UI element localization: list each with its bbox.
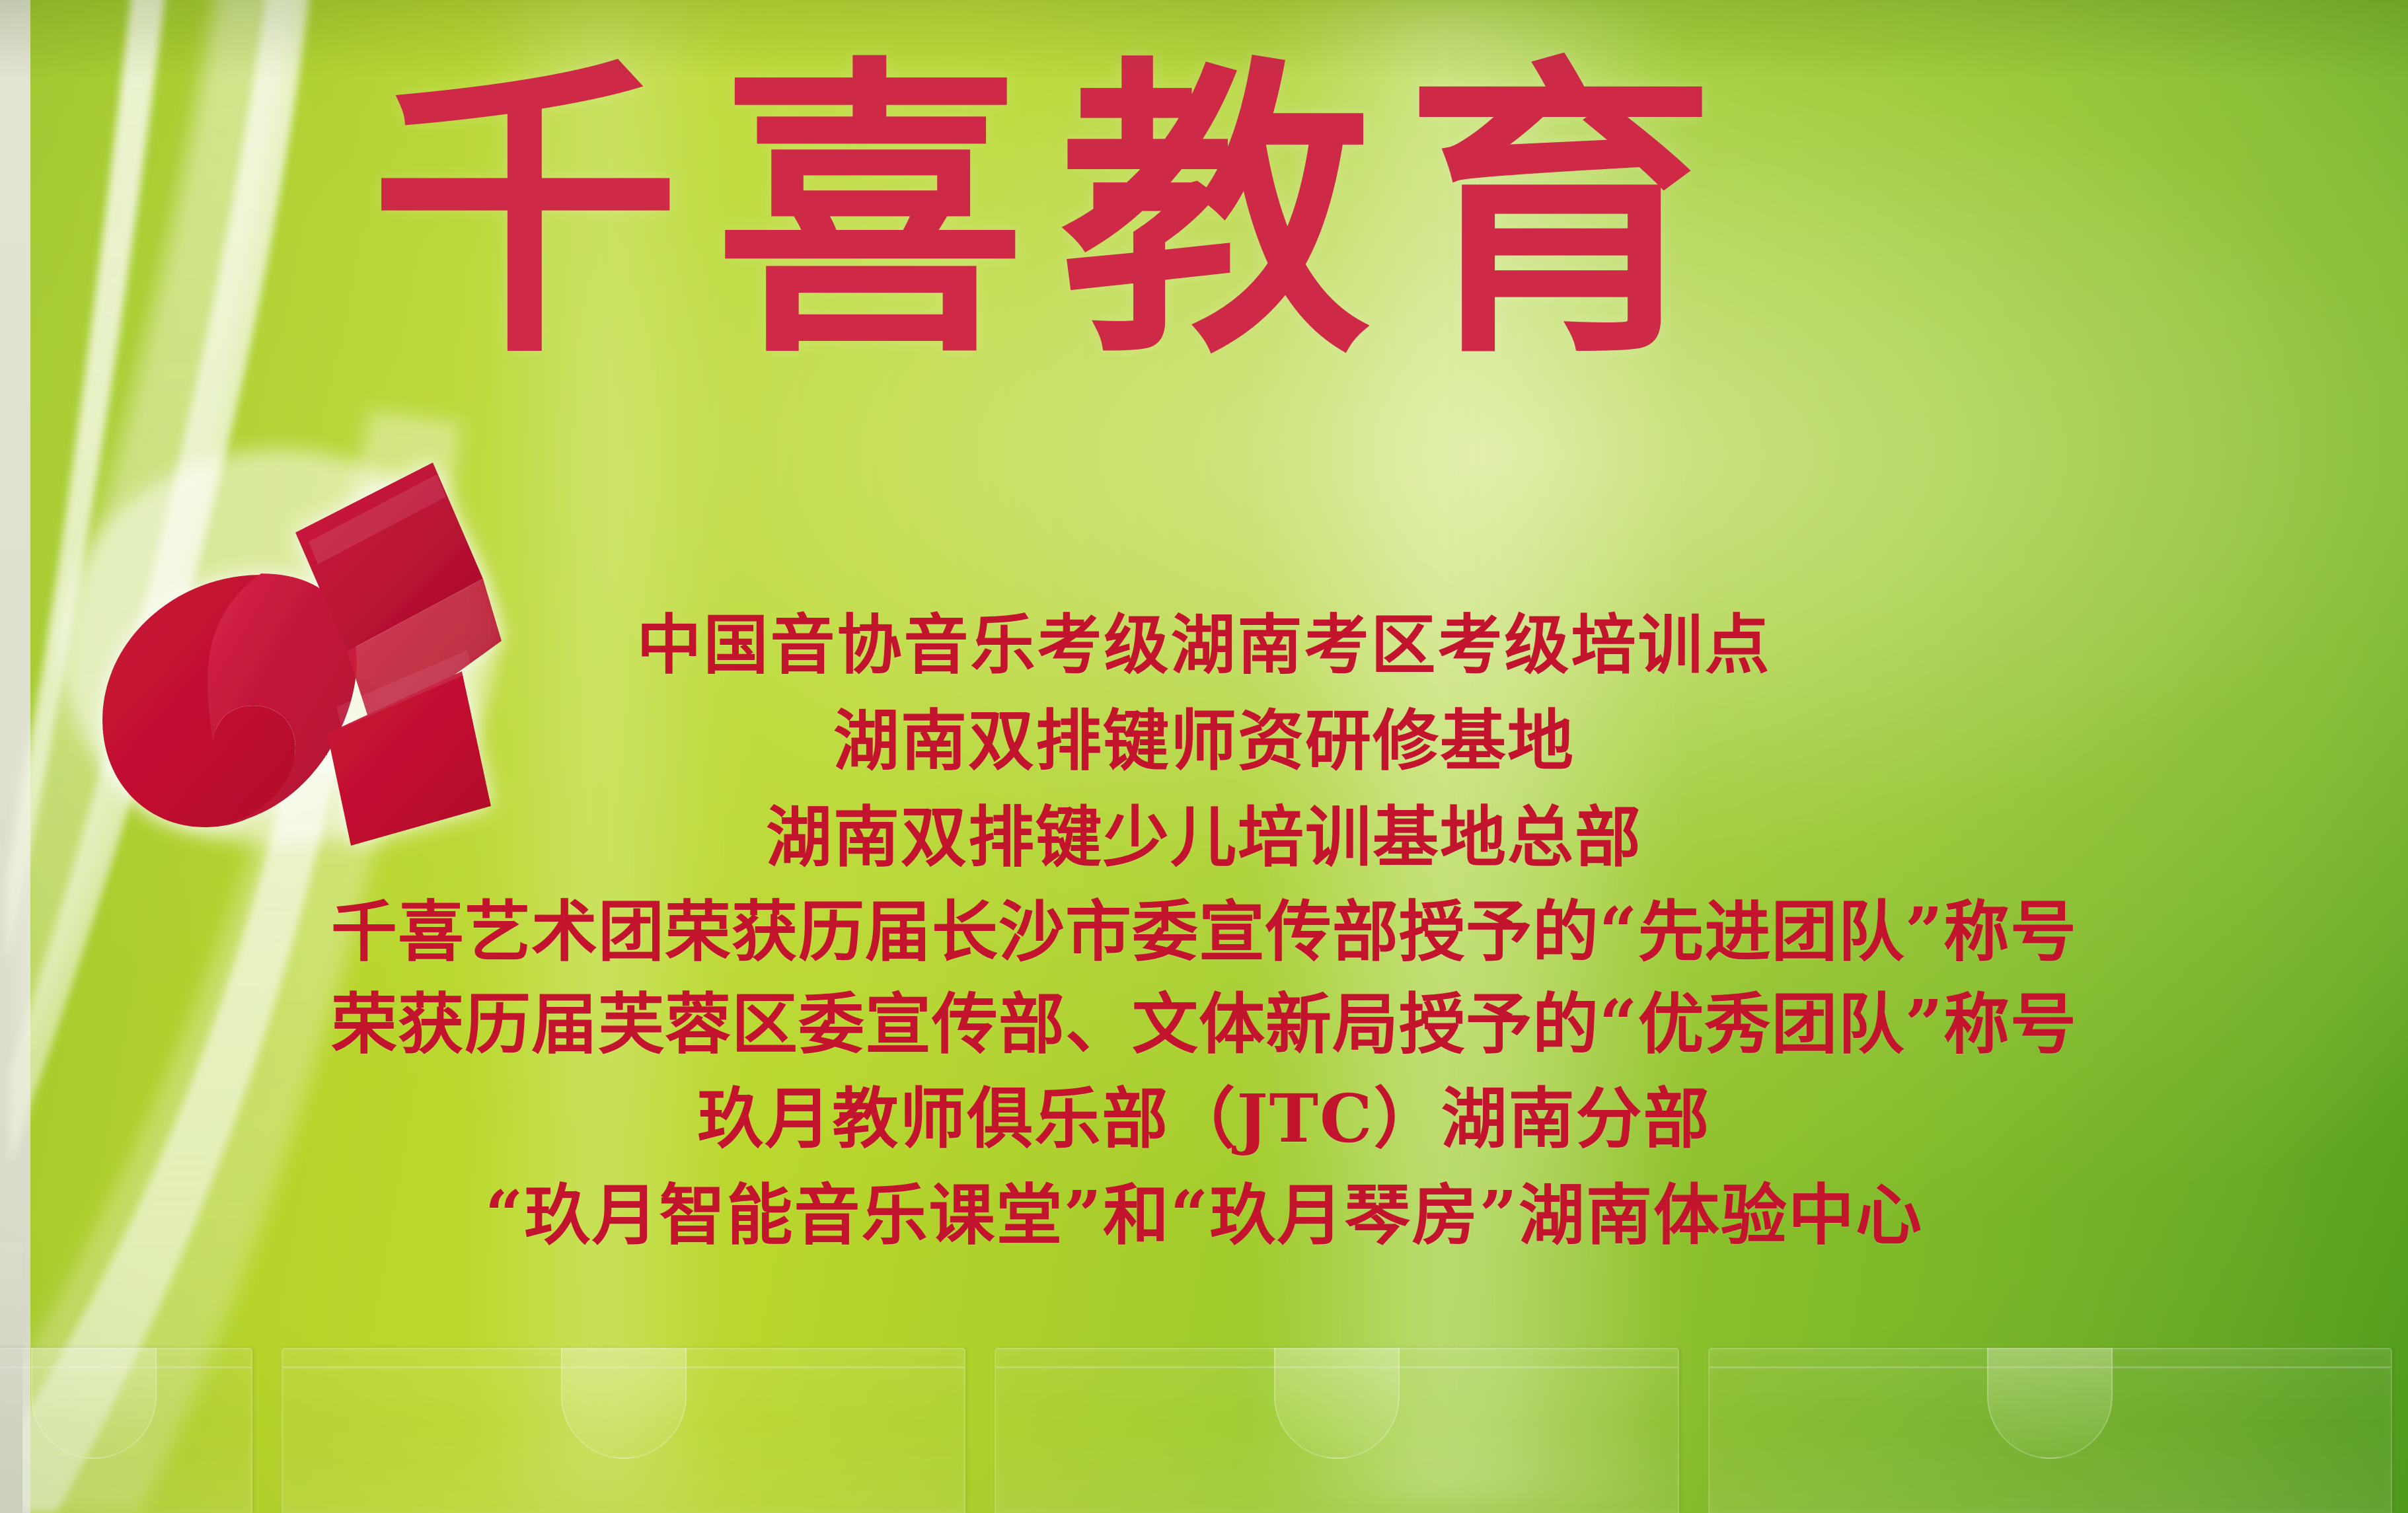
credential-line: 千喜艺术团荣获历届长沙市委宣传部授予的“先进团队”称号 <box>0 885 2408 978</box>
credential-line: 中国音协音乐考级湖南考区考级培训点 <box>0 598 2408 692</box>
credential-list: 中国音协音乐考级湖南考区考级培训点 湖南双排键师资研修基地 湖南双排键少儿培训基… <box>0 598 2408 1263</box>
credential-line: 湖南双排键师资研修基地 <box>0 692 2408 789</box>
thumb-notch <box>1987 1348 2113 1459</box>
page-title: 千喜教育 <box>370 57 2088 367</box>
credential-line: 玖月教师俱乐部（JTC）湖南分部 <box>0 1070 2408 1167</box>
thumb-notch <box>561 1348 687 1459</box>
leaflet-pocket[interactable] <box>282 1348 965 1513</box>
leaflet-pocket[interactable] <box>995 1348 1678 1513</box>
thumb-notch <box>1274 1348 1400 1459</box>
credential-line: “玖月智能音乐课堂”和“玖月琴房”湖南体验中心 <box>0 1167 2408 1263</box>
wall-sign-photo: 千喜教育 中国音协音乐考级湖南考区考级培训点 湖南双排键师资研修基地 湖南双排键… <box>0 0 2408 1513</box>
leaflet-pocket[interactable] <box>0 1348 252 1513</box>
credential-line: 荣获历届芙蓉区委宣传部、文体新局授予的“优秀团队”称号 <box>0 978 2408 1070</box>
credential-line: 湖南双排键少儿培训基地总部 <box>0 789 2408 885</box>
thumb-notch <box>31 1348 157 1459</box>
leaflet-pocket[interactable] <box>1708 1348 2392 1513</box>
leaflet-pocket-row <box>0 1295 2408 1513</box>
